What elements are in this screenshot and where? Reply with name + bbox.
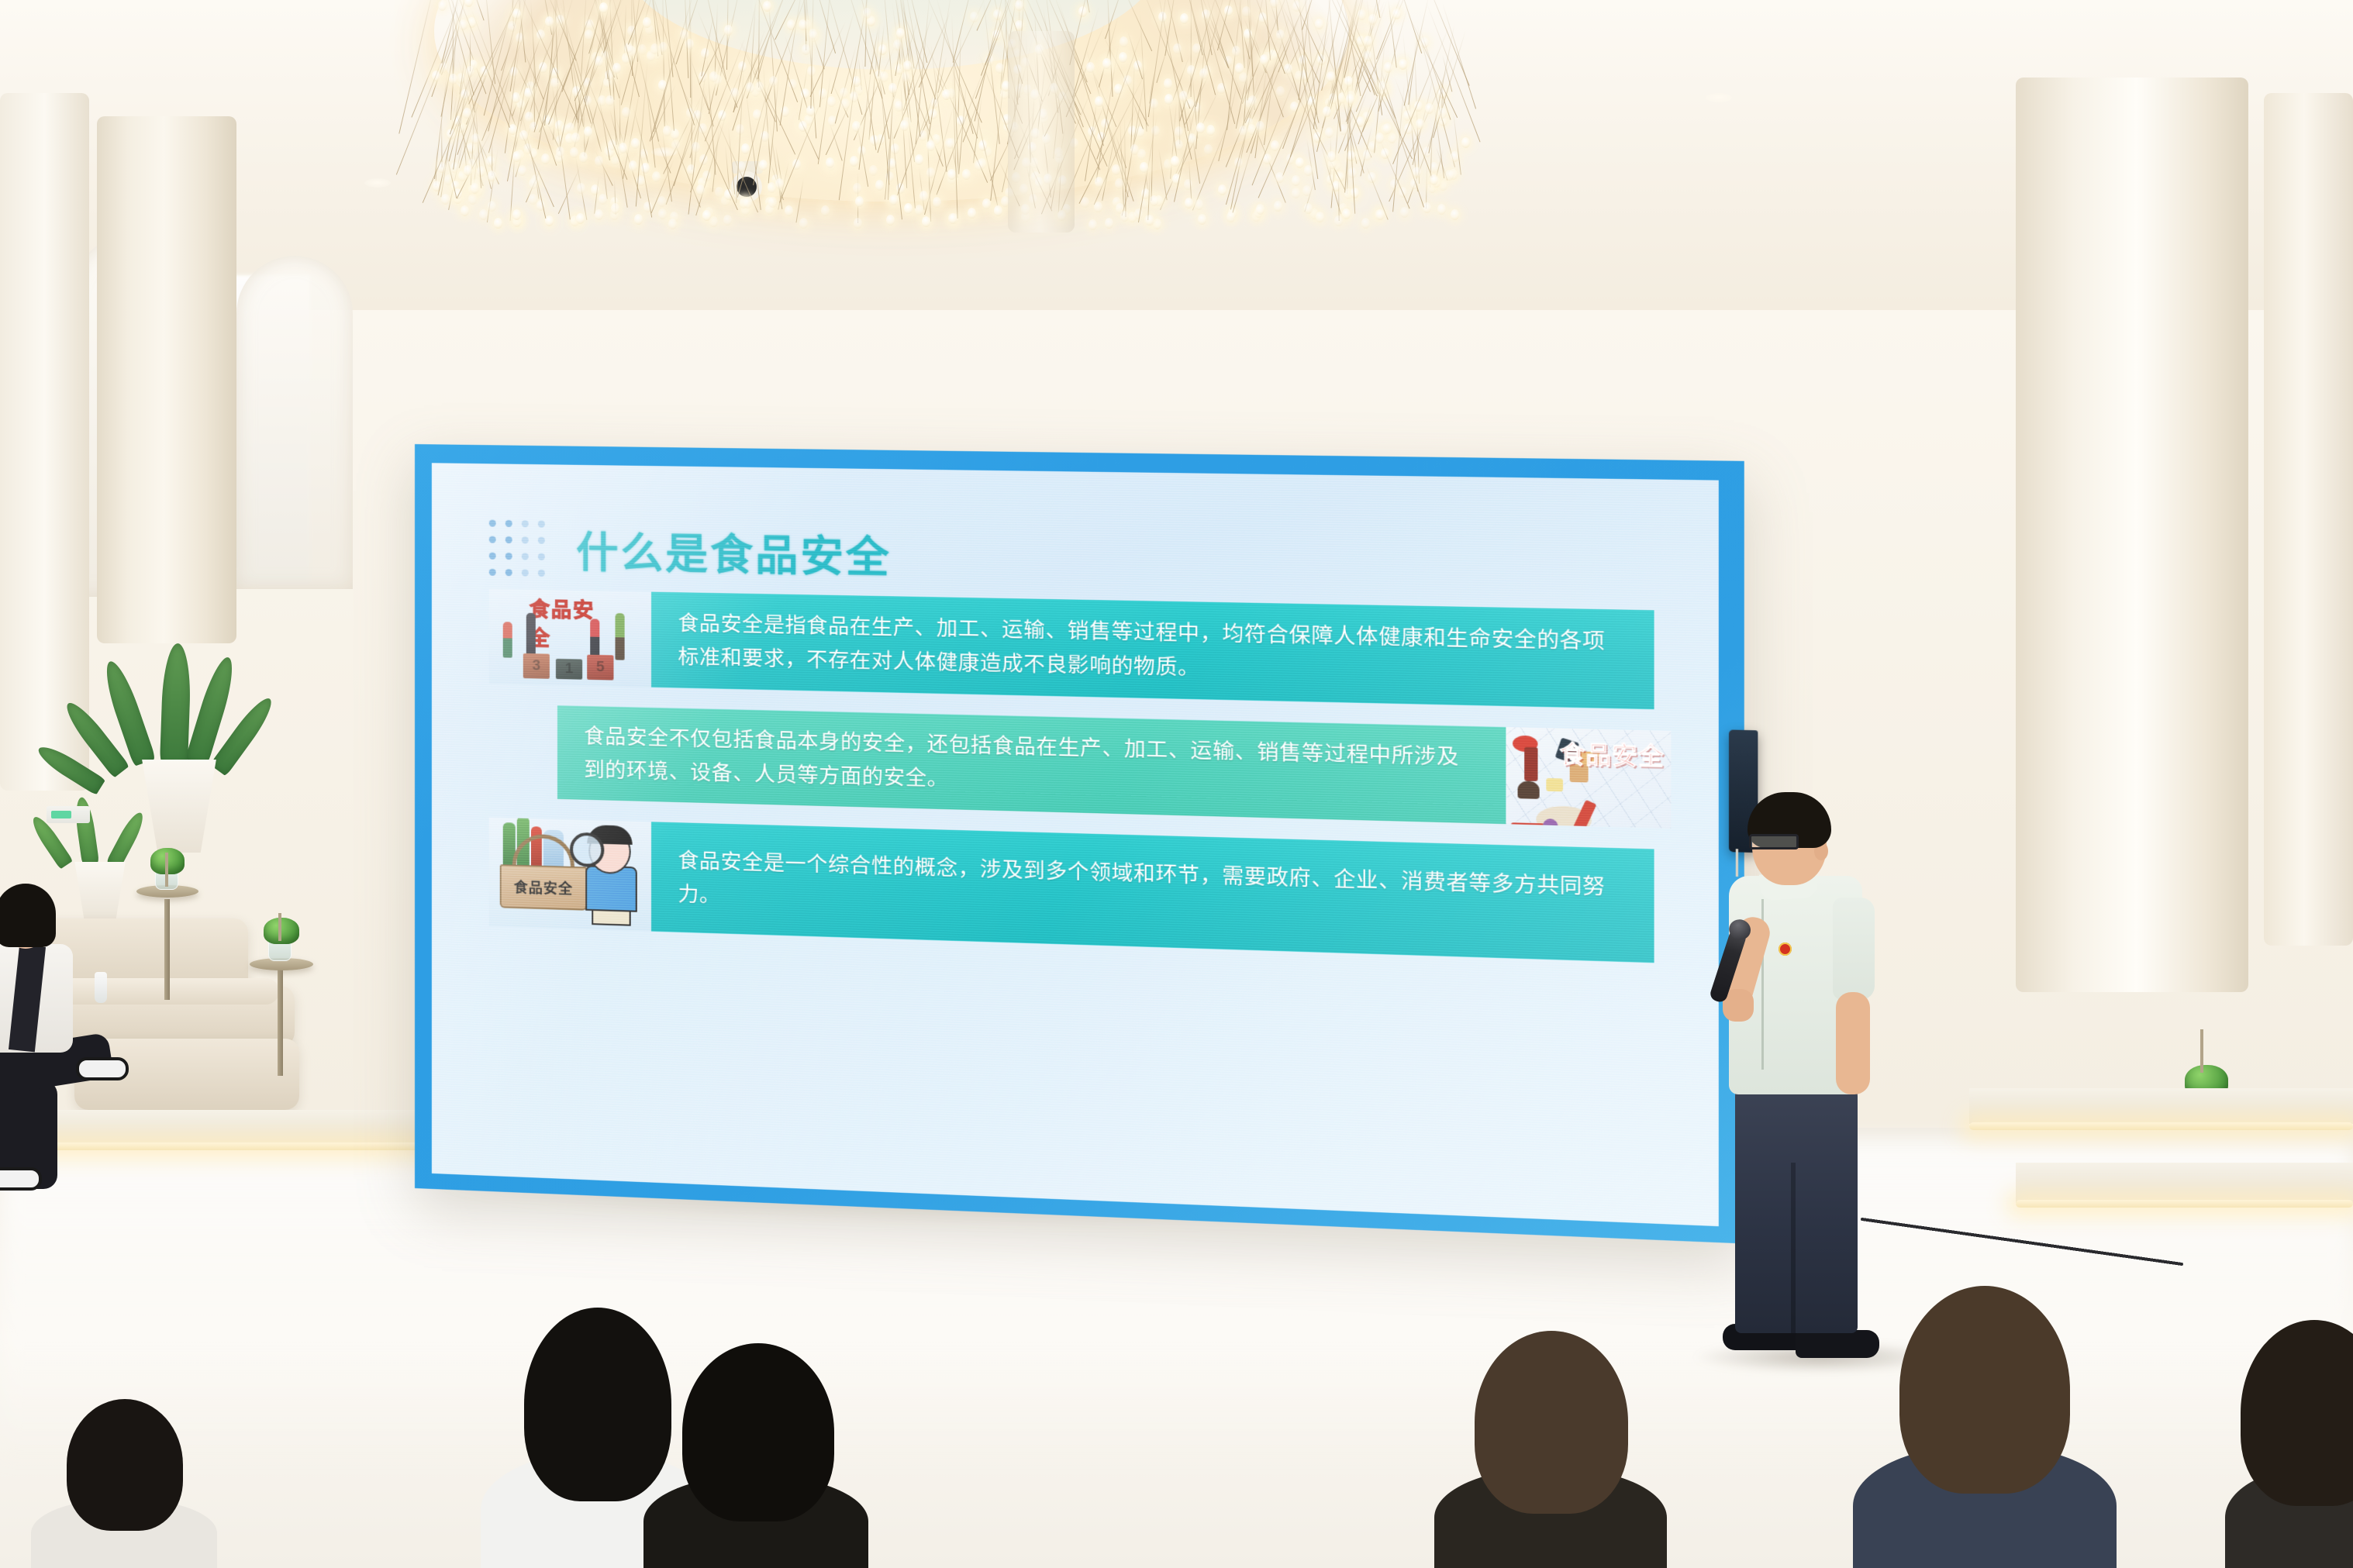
fibre-optic-chandelier — [434, 0, 1465, 233]
led-video-wall[interactable]: 什么是食品安全 食品安全 3 1 5 — [415, 444, 1744, 1244]
audience-member — [1853, 1297, 2117, 1568]
content-block-text: 食品安全不仅包括食品本身的安全，还包括食品在生产、加工、运输、销售等过程中所涉及… — [557, 705, 1506, 824]
seated-attendee — [0, 891, 130, 1217]
step — [2016, 1163, 2353, 1203]
step-light-strip — [1969, 1122, 2353, 1130]
step — [1969, 1088, 2353, 1124]
thumbnail-caption: 食品安全 — [514, 877, 573, 898]
sneaker — [0, 1167, 42, 1191]
content-block: 食品安全 3 1 5 食品安全是指食品在生产、加工、运输、销售等过程中，均符合保… — [489, 589, 1654, 709]
block-number: 1 — [556, 659, 582, 680]
wall-sign — [47, 806, 90, 823]
column — [2016, 78, 2248, 992]
presenter — [1715, 798, 1886, 1372]
ceiling-spotlight — [364, 178, 391, 188]
presenter-trousers — [1735, 1085, 1858, 1333]
dot-grid-decoration — [489, 519, 545, 576]
thumbnail-image-inspector: 食品安全 — [489, 818, 651, 932]
venue-scene: 什么是食品安全 食品安全 3 1 5 — [0, 0, 2353, 1568]
content-block: 食品安全 食品安全是一个综合性的概念，涉及到多个领域和环节，需要政府、企业、消费… — [489, 818, 1654, 963]
thumbnail-image-315: 食品安全 3 1 5 — [489, 589, 651, 688]
lapel-pin-icon — [1779, 943, 1792, 956]
sneaker — [76, 1057, 129, 1080]
column — [2264, 93, 2353, 946]
block-number: 3 — [523, 653, 550, 679]
page-title: 什么是食品安全 — [576, 518, 892, 585]
eyeglasses-icon — [1749, 834, 1799, 849]
step-light-strip — [2016, 1200, 2353, 1208]
audience-member — [2225, 1335, 2353, 1568]
column — [1008, 31, 1075, 233]
slide-title-row: 什么是食品安全 — [489, 516, 1675, 599]
wall-arch — [236, 256, 353, 589]
ceiling-spotlight — [1706, 93, 1732, 102]
thumbnail-caption: 食品安全 — [1560, 743, 1665, 770]
content-block: 食品安全不仅包括食品本身的安全，还包括食品在生产、加工、运输、销售等过程中所涉及… — [557, 705, 1672, 829]
audience-member — [1434, 1343, 1667, 1568]
column — [0, 93, 89, 791]
screen-bezel: 什么是食品安全 食品安全 3 1 5 — [415, 444, 1744, 1244]
content-block-text: 食品安全是一个综合性的概念，涉及到多个领域和环节，需要政府、企业、消费者等多方共… — [651, 822, 1654, 963]
content-block-text: 食品安全是指食品在生产、加工、运输、销售等过程中，均符合保障人体健康和生命安全的… — [651, 592, 1654, 710]
audience-member — [643, 1359, 868, 1568]
column — [97, 116, 236, 643]
slide-canvas: 什么是食品安全 食品安全 3 1 5 — [432, 463, 1719, 1226]
audience-member — [31, 1436, 217, 1568]
block-number: 5 — [587, 655, 613, 681]
thumbnail-image-cart: 食品安全 — [1506, 727, 1671, 829]
